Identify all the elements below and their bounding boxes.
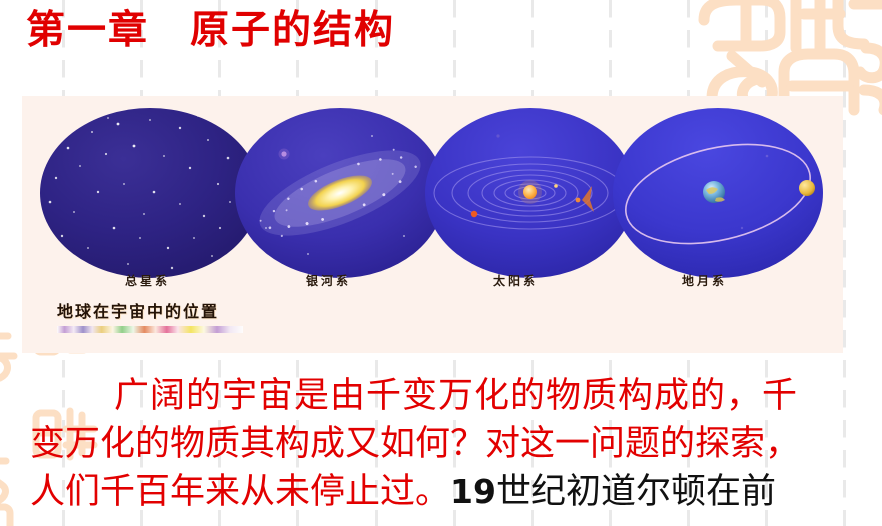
sphere-label-solar-system: 太阳系 xyxy=(493,272,538,289)
paragraph-line-3-number: 19 xyxy=(450,472,496,511)
seal-script-watermark-left-5 xyxy=(0,503,18,526)
paragraph-line-3-red: 人们千百年来从未停止过。 xyxy=(30,472,450,512)
paragraph-line-1-red: 广阔的宇宙是由千变万化的物质构成的，千 xyxy=(114,376,798,416)
paragraph-line-2: 变万化的物质其构成又如何？对这一问题的探索， xyxy=(30,420,882,468)
cosmos-illustration: 总星系 银河系 太阳系 地月系 地球在宇宙中的位置 xyxy=(22,96,843,353)
paragraph-line-3-black: 世纪初道尔顿在前 xyxy=(496,472,776,512)
slide-canvas: 第一章 原子的结构 xyxy=(0,0,882,526)
seal-script-watermark-left-4 xyxy=(0,455,18,505)
picture-caption-block: 地球在宇宙中的位置 xyxy=(57,298,243,333)
paragraph-line-2-red: 变万化的物质其构成又如何？对这一问题的探索， xyxy=(30,424,800,464)
paragraph-line-1: 广阔的宇宙是由千变万化的物质构成的，千 xyxy=(30,372,882,420)
paragraph-line-3: 人们千百年来从未停止过。19世纪初道尔顿在前 xyxy=(30,468,882,516)
seal-script-watermark-left-2 xyxy=(0,330,22,388)
sphere-label-galaxy: 银河系 xyxy=(306,272,351,289)
sphere-label-earth-moon-system: 地月系 xyxy=(682,272,727,289)
picture-caption: 地球在宇宙中的位置 xyxy=(57,298,243,322)
spectrum-color-bar xyxy=(57,326,243,333)
sphere-label-total-star-system: 总星系 xyxy=(125,272,170,289)
page-title: 第一章 原子的结构 xyxy=(26,8,395,55)
body-paragraph: 广阔的宇宙是由千变万化的物质构成的，千 变万化的物质其构成又如何？对这一问题的探… xyxy=(30,372,882,516)
